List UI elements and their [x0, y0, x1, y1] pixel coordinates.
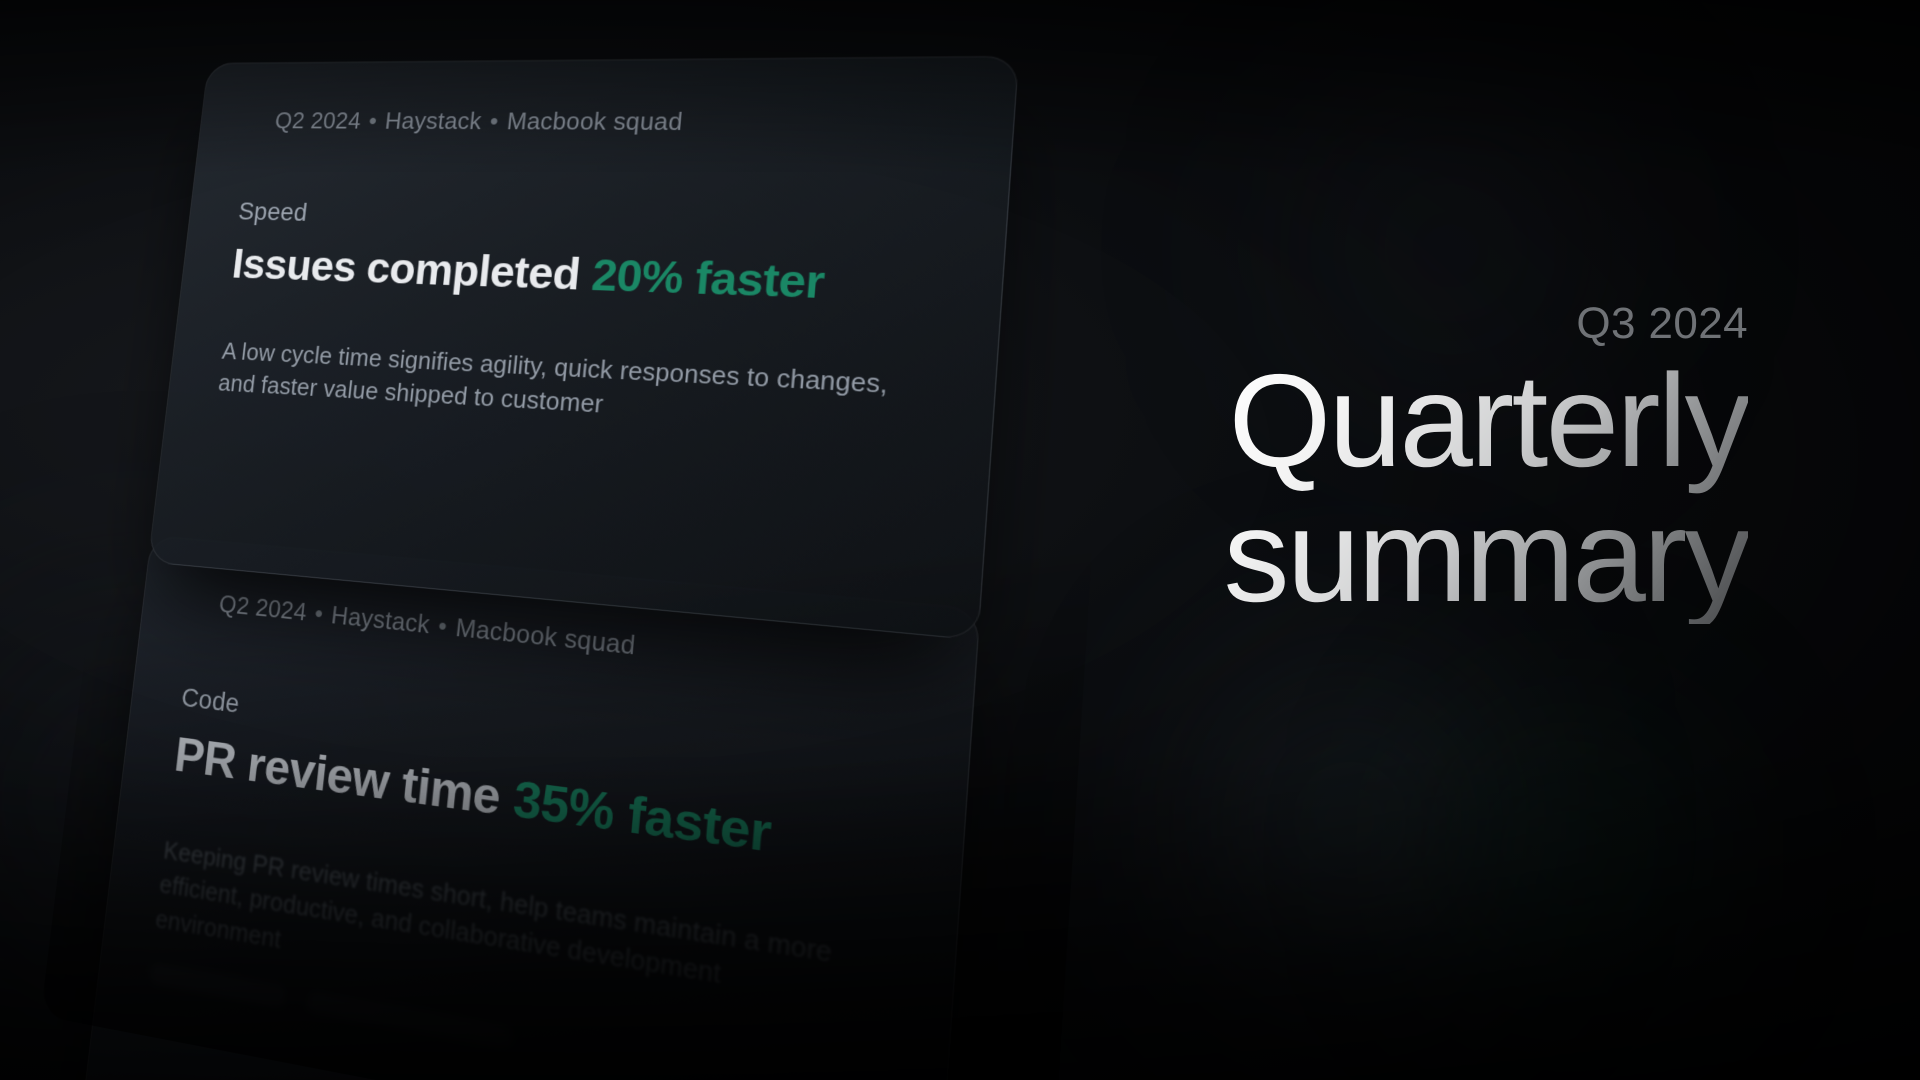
- headline-main-text: PR review time: [172, 727, 503, 825]
- headline-metric-text: 20% faster: [590, 250, 827, 309]
- card-description-speed: A low cycle time signifies agility, quic…: [217, 336, 914, 442]
- card-meta-quarter: Q2 2024: [218, 591, 308, 626]
- headline-main-text: Issues completed: [230, 240, 582, 299]
- ghost-pill: [148, 962, 287, 1008]
- meta-separator-icon: •: [437, 613, 448, 641]
- meta-separator-icon: •: [489, 109, 500, 135]
- card-meta-speed: Q2 2024•Haystack•Macbook squad: [274, 109, 951, 138]
- ambient-glow-green: [1420, 640, 1720, 1060]
- card-meta-product: Haystack: [384, 109, 483, 135]
- slide-title-line-1: Quarterly: [1224, 354, 1749, 489]
- slide-eyebrow-quarter: Q3 2024: [1224, 300, 1749, 348]
- metric-card-deck: Q2 2024•Haystack•Macbook squad Speed Iss…: [0, 0, 1150, 1080]
- ambient-glow-center-right: [1180, 560, 1520, 1080]
- card-description-code: Keeping PR review times short, help team…: [154, 834, 872, 1058]
- slide-title: Quarterly summary: [1224, 354, 1749, 623]
- presentation-slide: Q2 2024•Haystack•Macbook squad Speed Iss…: [0, 0, 1920, 1080]
- card-headline-speed: Issues completed 20% faster: [230, 240, 940, 313]
- meta-separator-icon: •: [313, 600, 324, 628]
- slide-title-block: Q3 2024 Quarterly summary: [1224, 300, 1749, 624]
- headline-metric-text: 35% faster: [511, 771, 773, 864]
- ghost-pill: [306, 990, 514, 1050]
- card-category-label-speed: Speed: [237, 198, 944, 243]
- card-meta-product: Haystack: [330, 602, 431, 639]
- metric-card-speed[interactable]: Q2 2024•Haystack•Macbook squad Speed Iss…: [148, 56, 1019, 641]
- card-meta-team: Macbook squad: [506, 109, 684, 136]
- slide-title-line-2: summary: [1224, 489, 1749, 624]
- card-meta-quarter: Q2 2024: [274, 109, 363, 134]
- card-meta-team: Macbook squad: [454, 614, 636, 660]
- meta-separator-icon: •: [368, 109, 379, 134]
